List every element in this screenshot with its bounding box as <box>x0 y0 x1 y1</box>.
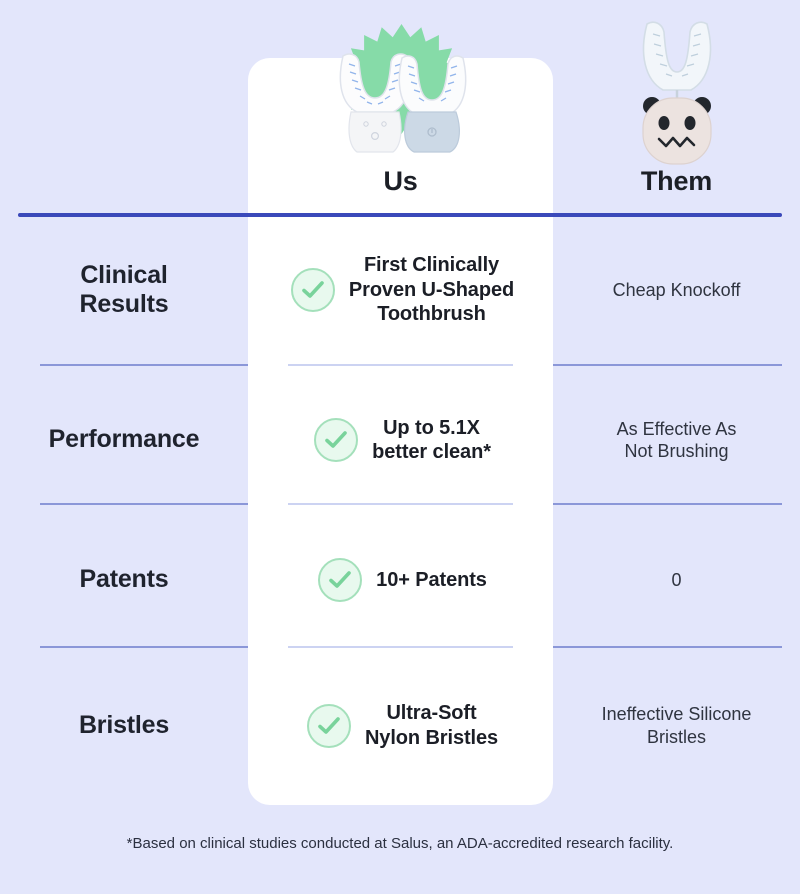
feature-cell-bristles: Bristles <box>0 711 248 741</box>
feature-label: Clinical Results <box>80 261 169 320</box>
table-row: Performance Up to 5.1X better clean* As … <box>0 385 800 495</box>
us-value-line1: 10+ Patents <box>376 569 487 591</box>
check-circle-icon <box>307 704 351 748</box>
check-circle-icon <box>291 268 335 312</box>
them-header-column: Them <box>617 10 737 210</box>
us-header-label: Us <box>383 168 417 210</box>
feature-cell-clinical-results: Clinical Results <box>0 261 248 320</box>
table-header-row: Us <box>0 0 800 210</box>
us-value-group: Ultra-Soft Nylon Bristles <box>303 701 498 750</box>
checkmark-icon <box>323 427 349 453</box>
them-cell-bristles: Ineffective Silicone Bristles <box>553 703 800 748</box>
row-divider-center <box>288 503 513 505</box>
row-divider-center <box>288 646 513 648</box>
check-circle-icon <box>318 558 362 602</box>
us-cell-performance: Up to 5.1X better clean* <box>248 416 553 465</box>
them-cell-performance: As Effective As Not Brushing <box>553 418 800 463</box>
feature-label-line2: Results <box>80 290 169 320</box>
them-value-line1: Cheap Knockoff <box>613 280 741 300</box>
feature-label: Performance <box>49 425 200 455</box>
us-value: 10+ Patents <box>376 568 487 592</box>
feature-label: Bristles <box>79 711 169 741</box>
us-cell-patents: 10+ Patents <box>248 558 553 602</box>
them-value: 0 <box>671 569 681 592</box>
check-circle-icon <box>314 418 358 462</box>
them-value: Cheap Knockoff <box>613 279 741 302</box>
checkmark-icon <box>300 277 326 303</box>
feature-label-line1: Bristles <box>79 711 169 741</box>
us-value: First Clinically Proven U-Shaped Toothbr… <box>349 253 514 326</box>
us-value-group: Up to 5.1X better clean* <box>310 416 491 465</box>
them-header-label: Them <box>641 168 712 210</box>
them-value: As Effective As Not Brushing <box>617 418 737 463</box>
us-value-line1: Ultra-Soft <box>386 702 476 724</box>
us-value-group: 10+ Patents <box>314 558 487 602</box>
them-cell-clinical-results: Cheap Knockoff <box>553 279 800 302</box>
table-row: Bristles Ultra-Soft Nylon Bristles Ineff… <box>0 668 800 783</box>
row-divider-center <box>288 364 513 366</box>
row-divider-right <box>553 646 782 648</box>
feature-cell-patents: Patents <box>0 565 248 595</box>
checkmark-icon <box>327 567 353 593</box>
row-divider-left <box>40 503 248 505</box>
feature-cell-performance: Performance <box>0 425 248 455</box>
them-value-line2: Bristles <box>647 727 706 747</box>
them-value-line1: 0 <box>671 570 681 590</box>
them-value-line2: Not Brushing <box>624 441 728 461</box>
footnote: *Based on clinical studies conducted at … <box>0 835 800 852</box>
feature-label: Patents <box>80 565 169 595</box>
them-cell-patents: 0 <box>553 569 800 592</box>
table-row: Clinical Results First Clinically Proven… <box>0 226 800 354</box>
us-value: Up to 5.1X better clean* <box>372 416 491 465</box>
us-value-line2: better clean* <box>372 441 491 463</box>
them-value: Ineffective Silicone Bristles <box>602 703 752 748</box>
panda-toothbrush-icon <box>617 18 737 168</box>
table-row: Patents 10+ Patents 0 <box>0 525 800 635</box>
them-value-line1: As Effective As <box>617 419 737 439</box>
us-cell-clinical-results: First Clinically Proven U-Shaped Toothbr… <box>248 253 553 326</box>
us-value-line1: Up to 5.1X <box>383 417 480 439</box>
feature-label-line1: Patents <box>80 565 169 595</box>
us-header-column: Us <box>321 10 481 210</box>
us-product-image <box>321 18 481 168</box>
header-divider <box>18 213 782 217</box>
row-divider-right <box>553 364 782 366</box>
us-value-line1: First Clinically <box>364 254 499 276</box>
checkmark-icon <box>316 713 342 739</box>
row-divider-left <box>40 646 248 648</box>
us-value-line3: Toothbrush <box>377 303 486 325</box>
header-us-cell: Us <box>248 10 553 210</box>
us-value-line2: Nylon Bristles <box>365 727 498 749</box>
row-divider-right <box>553 503 782 505</box>
us-value-group: First Clinically Proven U-Shaped Toothbr… <box>287 253 514 326</box>
them-value-line1: Ineffective Silicone <box>602 704 752 724</box>
row-divider-left <box>40 364 248 366</box>
us-cell-bristles: Ultra-Soft Nylon Bristles <box>248 701 553 750</box>
them-product-image <box>617 18 737 168</box>
comparison-table: Us <box>0 0 800 894</box>
us-value: Ultra-Soft Nylon Bristles <box>365 701 498 750</box>
toothbrush-head-blue-icon <box>394 52 472 157</box>
feature-label-line1: Performance <box>49 425 200 455</box>
feature-label-line1: Clinical <box>80 261 169 291</box>
us-value-line2: Proven U-Shaped <box>349 279 514 301</box>
header-them-cell: Them <box>553 10 800 210</box>
